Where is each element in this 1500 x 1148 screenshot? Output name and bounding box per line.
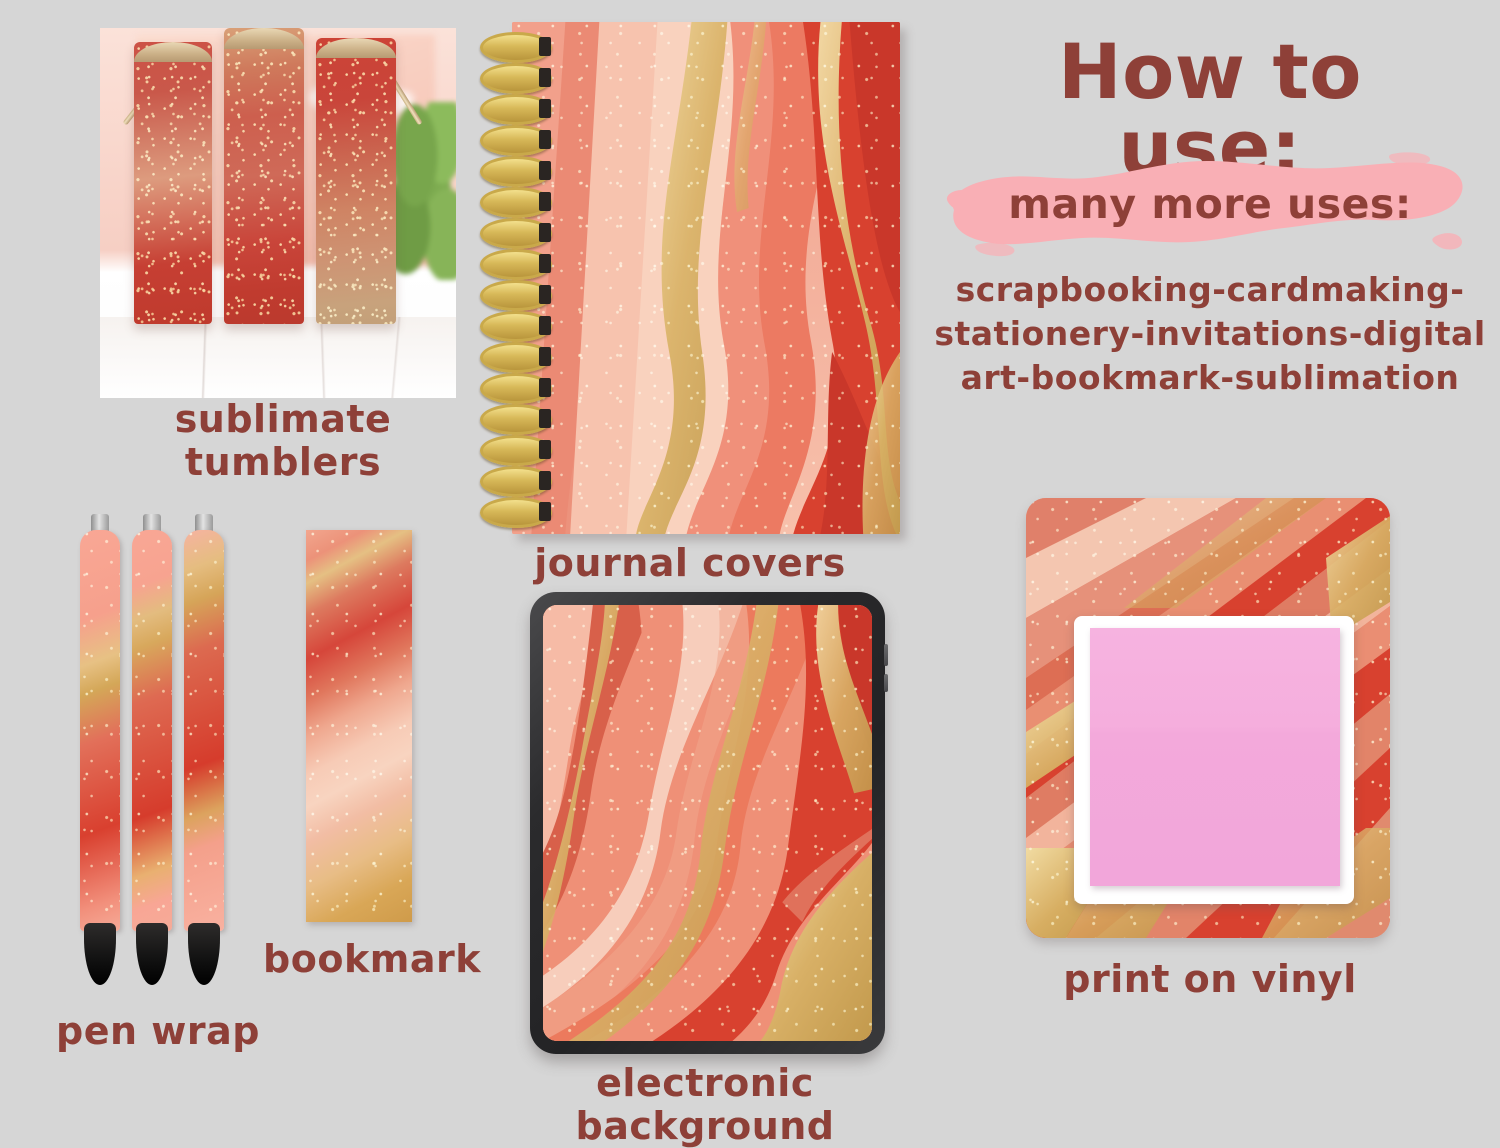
spiral-coil: [480, 156, 552, 187]
pen-barrel: [132, 530, 172, 931]
label-sublimate-tumblers: sublimate tumblers: [128, 398, 438, 483]
spiral-coil: [480, 497, 552, 528]
spiral-coil: [480, 404, 552, 435]
pen-3: [184, 530, 224, 985]
subheading: many more uses:: [960, 182, 1460, 228]
spiral-coil: [480, 187, 552, 218]
spiral-coil: [480, 435, 552, 466]
sticky-note-mockup: [1074, 616, 1354, 904]
journal-cover-art: [512, 22, 900, 534]
glitter-overlay: [306, 530, 412, 922]
spiral-coil: [480, 218, 552, 249]
spiral-coil: [480, 373, 552, 404]
pen-tip: [84, 923, 116, 985]
label-bookmark: bookmark: [252, 938, 492, 981]
spiral-coil: [480, 125, 552, 156]
pen-2: [132, 530, 172, 985]
tumbler-scene: [100, 28, 456, 398]
photo-tabletop: [100, 317, 456, 398]
bookmark-mockup: [306, 530, 412, 922]
vinyl-print-mockup: [1026, 498, 1390, 938]
sticky-note-paper: [1090, 628, 1340, 886]
label-pen-wrap: pen wrap: [38, 1010, 278, 1053]
pen-wrap-mockup: [80, 508, 245, 1008]
spiral-coil: [480, 94, 552, 125]
bookmark-artwork: [306, 530, 412, 922]
spiral-coil: [480, 466, 552, 497]
tablet-volume-button[interactable]: [884, 674, 888, 692]
spiral-coil: [480, 249, 552, 280]
pen-barrel: [80, 530, 120, 931]
pen-tip: [136, 923, 168, 985]
spiral-coil: [480, 311, 552, 342]
spiral-coil: [480, 63, 552, 94]
tumbler-right: [316, 38, 396, 324]
spiral-coil: [480, 280, 552, 311]
poster-canvas: sublimate tumblers: [0, 0, 1500, 1125]
wave-artwork: [512, 22, 900, 534]
tablet-mockup[interactable]: [530, 592, 885, 1054]
tablet-side-button[interactable]: [884, 644, 888, 666]
spiral-coil: [480, 32, 552, 63]
label-print-on-vinyl: print on vinyl: [1020, 958, 1400, 1001]
tumbler-photo-mockup: [100, 28, 456, 398]
pen-tip: [188, 923, 220, 985]
label-electronic-background: electronic background: [470, 1062, 940, 1147]
tumbler-left: [134, 42, 212, 324]
journal-cover-mockup: [480, 22, 900, 534]
wave-svg: [512, 22, 900, 534]
spiral-coil: [480, 342, 552, 373]
tumbler-center: [224, 28, 304, 324]
pen-barrel: [184, 530, 224, 931]
tablet-screen[interactable]: [543, 605, 872, 1041]
wallpaper-artwork: [543, 605, 872, 1041]
uses-list: scrapbooking-cardmaking- stationery-invi…: [930, 268, 1490, 400]
wave-svg: [543, 605, 872, 1041]
pen-1: [80, 530, 120, 985]
label-journal-covers: journal covers: [520, 542, 860, 585]
